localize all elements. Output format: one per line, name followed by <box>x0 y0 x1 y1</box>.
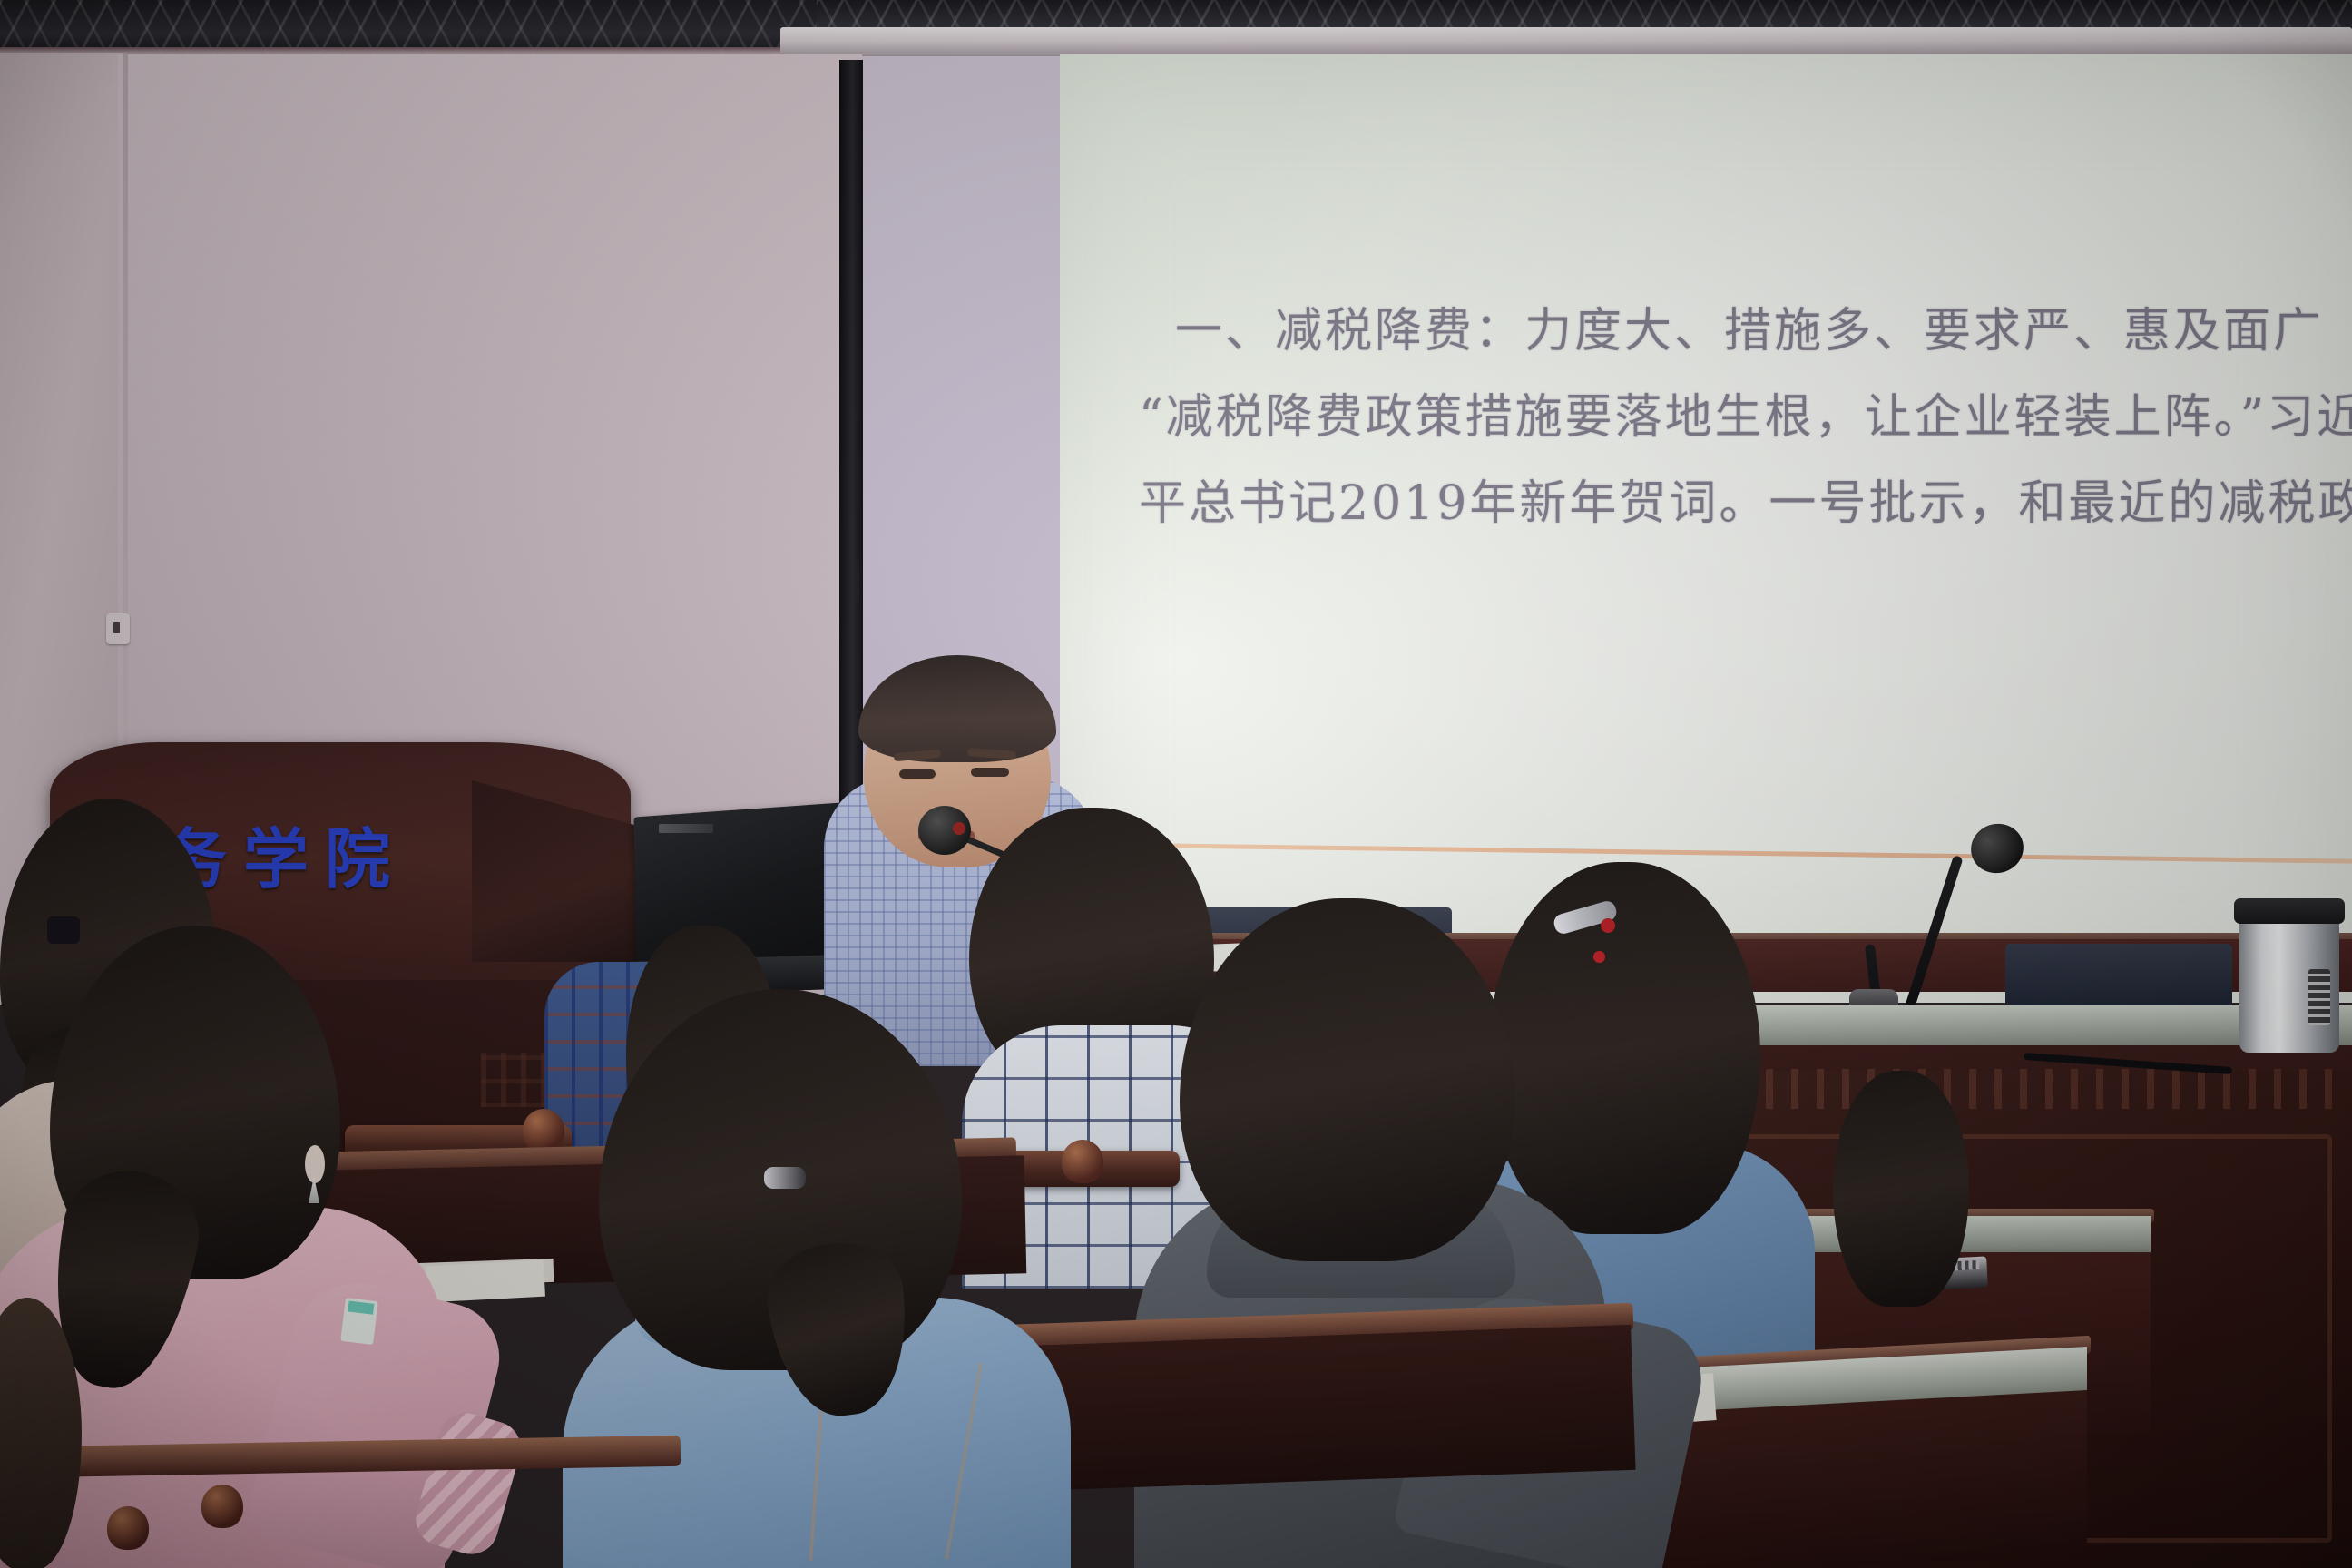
slide-line-2: “减税降费政策措施要落地生根，让企业轻装上阵。”习近 <box>1139 375 2309 461</box>
lecture-hall-photo: 一、减税降费：力度大、措施多、要求严、惠及面广 “减税降费政策措施要落地生根，让… <box>0 0 2352 1568</box>
chair-knob-1 <box>523 1109 564 1152</box>
audience-p8-hair <box>1833 1071 1969 1307</box>
chair-knob-2 <box>1062 1140 1103 1183</box>
audience-p7-hair <box>1488 862 1760 1234</box>
laptop-logo <box>659 824 713 833</box>
kettle-lid <box>2234 898 2345 924</box>
slide-line-3: 平总书记2019年新年贺词。一号批示，和最近的减税政策。 <box>1139 461 2309 547</box>
wall-outlet <box>106 613 130 644</box>
wall-fret-carving <box>1715 1069 2350 1109</box>
chair-knob-5 <box>201 1485 243 1528</box>
desk-rail-center-body <box>995 1325 1635 1492</box>
speaker-eye-left <box>899 769 936 779</box>
audience-p7-hair-clip-bead-1 <box>1601 918 1615 933</box>
slide-text-block: 一、减税降费：力度大、措施多、要求严、惠及面广 “减税降费政策措施要落地生根，让… <box>1139 289 2309 547</box>
audience-p7-hair-clip-bead-2 <box>1593 951 1605 963</box>
audience-p4-hair-tie <box>764 1167 806 1189</box>
stage-chair-back-right <box>2005 944 2232 1007</box>
kettle-control-panel <box>2308 969 2330 1025</box>
chair-knob-6 <box>107 1506 149 1550</box>
slide-line-1: 一、减税降费：力度大、措施多、要求严、惠及面广 <box>1139 289 2309 375</box>
audience-p1-hair-clip <box>47 916 80 944</box>
audience-p2-ear <box>305 1145 325 1183</box>
audience-p2-price-tag <box>340 1298 378 1345</box>
screen-roller-housing <box>780 27 2352 58</box>
speaker-eye-right <box>971 768 1009 777</box>
podium-microphone-ring <box>953 822 965 835</box>
paper-sheet-left-2 <box>426 1260 545 1303</box>
